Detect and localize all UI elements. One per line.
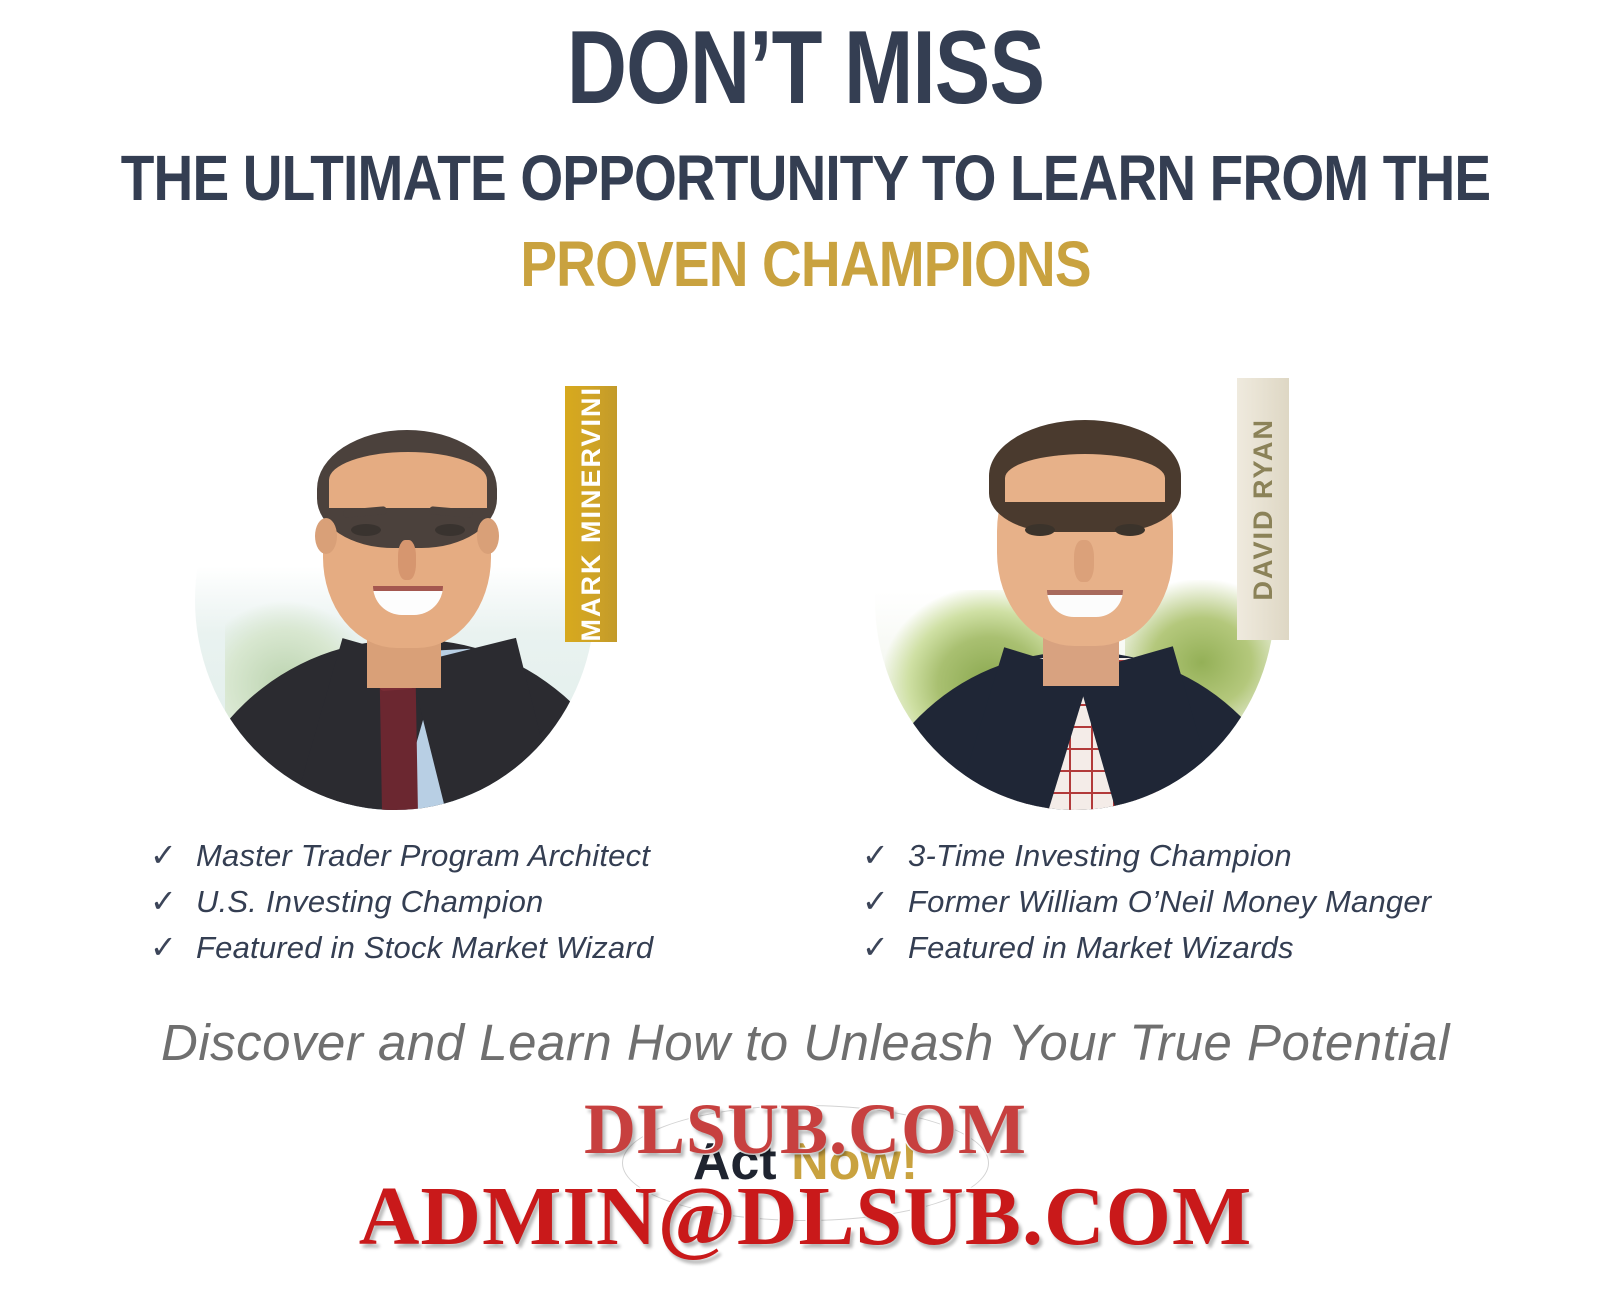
credential-label: 3-Time Investing Champion <box>908 838 1292 874</box>
watermark-email: ADMIN@DLSUB.COM <box>0 1168 1611 1265</box>
headline-line-2: THE ULTIMATE OPPORTUNITY TO LEARN FROM T… <box>113 120 1498 210</box>
tagline: Discover and Learn How to Unleash Your T… <box>0 1013 1611 1072</box>
credential-label: Master Trader Program Architect <box>196 838 650 874</box>
credential-label: Former William O’Neil Money Manger <box>908 884 1431 920</box>
name-banner-david-ryan: DAVID RYAN <box>1237 378 1289 640</box>
list-item: ✓ Featured in Market Wizards <box>862 930 1431 976</box>
check-icon: ✓ <box>862 839 908 871</box>
list-item: ✓ U.S. Investing Champion <box>150 884 653 930</box>
speaker-name-label: DAVID RYAN <box>1248 418 1279 601</box>
check-icon: ✓ <box>150 885 196 917</box>
list-item: ✓ 3-Time Investing Champion <box>862 838 1431 884</box>
check-icon: ✓ <box>150 931 196 963</box>
portrait-david-ryan <box>875 390 1275 810</box>
credential-label: Featured in Stock Market Wizard <box>196 930 653 966</box>
headline-block: DON’T MISS THE ULTIMATE OPPORTUNITY TO L… <box>0 0 1611 296</box>
speaker-card-david-ryan: DAVID RYAN <box>875 372 1305 822</box>
name-banner-mark-minervini: MARK MINERVINI <box>565 386 617 642</box>
headline-line-3: PROVEN CHAMPIONS <box>113 210 1498 296</box>
portrait-mark-minervini <box>195 390 595 810</box>
speaker-name-label: MARK MINERVINI <box>576 386 607 642</box>
credentials-row: ✓ Master Trader Program Architect ✓ U.S.… <box>0 838 1611 978</box>
list-item: ✓ Featured in Stock Market Wizard <box>150 930 653 976</box>
credential-label: U.S. Investing Champion <box>196 884 544 920</box>
credential-label: Featured in Market Wizards <box>908 930 1294 966</box>
speakers-row: MARK MINERVINI <box>0 372 1611 842</box>
promo-banner: DON’T MISS THE ULTIMATE OPPORTUNITY TO L… <box>0 0 1611 1291</box>
headline-line-1: DON’T MISS <box>161 10 1450 120</box>
check-icon: ✓ <box>862 885 908 917</box>
check-icon: ✓ <box>862 931 908 963</box>
credential-list-david-ryan: ✓ 3-Time Investing Champion ✓ Former Wil… <box>862 838 1431 976</box>
speaker-card-mark-minervini: MARK MINERVINI <box>195 372 625 822</box>
list-item: ✓ Master Trader Program Architect <box>150 838 653 884</box>
credential-list-mark-minervini: ✓ Master Trader Program Architect ✓ U.S.… <box>150 838 653 976</box>
watermark-site: DLSUB.COM <box>0 1088 1611 1171</box>
list-item: ✓ Former William O’Neil Money Manger <box>862 884 1431 930</box>
check-icon: ✓ <box>150 839 196 871</box>
